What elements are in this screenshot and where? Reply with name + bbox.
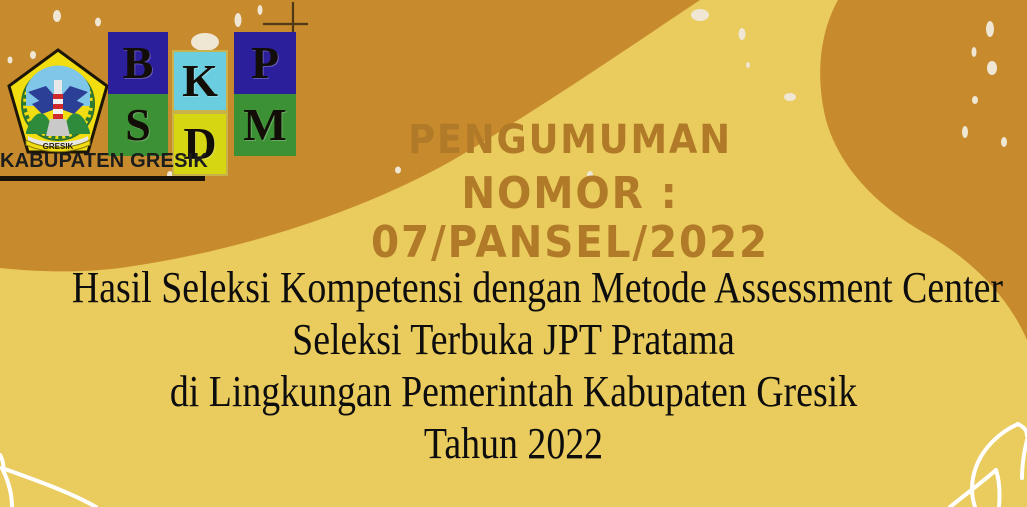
- kabupaten-gresik-crest-icon: GRESIK: [6, 48, 110, 160]
- body-line-4: Tahun 2022: [72, 418, 955, 470]
- letter-block-b: B: [108, 32, 168, 94]
- heading-line-1: PENGUMUMAN: [276, 118, 865, 163]
- letter-block-p: P: [234, 32, 296, 94]
- body-line-3: di Lingkungan Pemerintah Kabupaten Gresi…: [72, 366, 955, 418]
- heading-group: PENGUMUMAN NOMOR : 07/PANSEL/2022: [250, 118, 890, 267]
- body-text-group: Hasil Seleksi Kompetensi dengan Metode A…: [0, 262, 1027, 470]
- heading-line-2: NOMOR : 07/PANSEL/2022: [276, 169, 865, 268]
- announcement-banner: GRESIK B K P S D M KABUPATEN GRESIK PENG…: [0, 0, 1027, 507]
- letter-block-s: S: [108, 94, 168, 156]
- body-line-1: Hasil Seleksi Kompetensi dengan Metode A…: [72, 262, 955, 314]
- letter-block-k: K: [172, 50, 228, 112]
- body-line-2: Seleksi Terbuka JPT Pratama: [72, 314, 955, 366]
- institution-label: KABUPATEN GRESIK: [0, 150, 196, 173]
- institution-underline: [0, 176, 205, 181]
